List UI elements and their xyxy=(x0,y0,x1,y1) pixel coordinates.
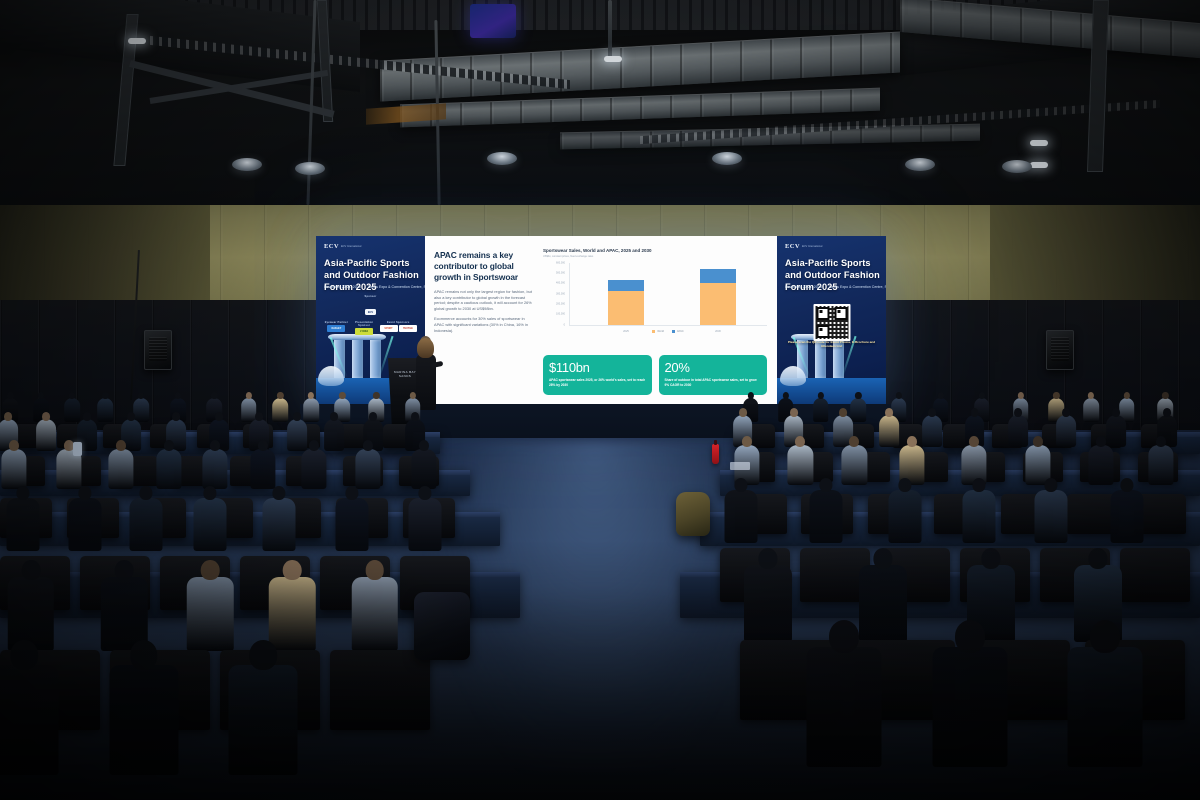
audience-head xyxy=(795,436,805,447)
led-panel-right: ECV ECV International Asia-Pacific Sport… xyxy=(777,236,886,404)
audience-member xyxy=(1035,478,1068,545)
water-bottle xyxy=(712,444,719,464)
chart-y-tick: 0 xyxy=(564,323,565,326)
audience-member xyxy=(1083,392,1099,424)
chart-bar xyxy=(608,280,644,324)
audience-head xyxy=(283,560,302,580)
audience-head xyxy=(116,440,126,451)
audience-member xyxy=(336,486,369,553)
audience-member xyxy=(842,436,867,487)
audience-member xyxy=(744,548,792,646)
sponsor-group-event: Event Sponsors SPORT TEXTILE xyxy=(380,321,418,336)
chart-legend-item: APAC xyxy=(672,330,684,333)
chart-y-tick: 500,000 xyxy=(556,271,565,274)
audience-head xyxy=(979,392,985,399)
audience-head xyxy=(782,392,788,399)
stat-caption: Share of outdoor in total APAC sportswea… xyxy=(665,378,762,388)
audience-head xyxy=(273,486,286,500)
audience-body xyxy=(1148,445,1173,485)
slide-paragraph: Ecommerce accounts for 30% sales of spor… xyxy=(434,316,534,334)
audience-body xyxy=(879,415,899,447)
sponsor-block: Sponsor ECV Eyewear Partner OAKLEY Prese… xyxy=(324,295,417,335)
audience-member xyxy=(813,392,829,424)
audience-body xyxy=(68,498,101,551)
audience-head xyxy=(245,392,251,399)
audience-head xyxy=(873,548,892,569)
audience-head xyxy=(896,392,902,399)
audience-body xyxy=(962,490,995,543)
pa-speaker-right xyxy=(1046,330,1074,370)
stat-card: 20% Share of outdoor in total APAC sport… xyxy=(659,355,768,395)
audience-member xyxy=(324,412,344,452)
audience-member xyxy=(409,486,442,553)
ceiling-lamp-right-b xyxy=(1030,162,1048,168)
audience-head xyxy=(330,412,338,421)
audience-head xyxy=(346,486,359,500)
stat-card: $110bn APAC sportswear sales 2025, or 26… xyxy=(543,355,652,395)
audience-member xyxy=(129,486,162,553)
audience-head xyxy=(4,412,12,421)
audience-head xyxy=(203,486,216,500)
audience-head xyxy=(83,412,91,421)
audience-head xyxy=(1096,436,1106,447)
audience-head xyxy=(38,392,44,399)
audience-head xyxy=(250,640,278,670)
audience-body xyxy=(250,449,275,489)
audience-head xyxy=(1088,392,1094,399)
audience-head xyxy=(972,478,985,492)
audience-body xyxy=(813,398,829,423)
qr-eye-icon xyxy=(816,307,829,320)
audience-member xyxy=(351,560,398,655)
ecv-logo-left: ECV ECV International xyxy=(324,243,361,250)
audience-body xyxy=(842,445,867,485)
audience-head xyxy=(819,478,832,492)
event-meta-left: November 20-21, 2025 Sands Expo & Conven… xyxy=(324,285,419,289)
paper-sheet xyxy=(730,462,750,470)
audience-member xyxy=(809,478,842,545)
audience-member xyxy=(1111,478,1144,545)
audience-head xyxy=(1112,408,1120,417)
audience-member xyxy=(724,478,757,545)
sponsor-group-eyewear: Eyewear Partner OAKLEY xyxy=(324,321,349,336)
audience-head xyxy=(955,620,985,653)
audience-member xyxy=(36,412,56,452)
audience-head xyxy=(885,408,893,417)
audience-member xyxy=(187,560,234,655)
audience-body xyxy=(744,565,792,642)
audience-body xyxy=(187,577,234,651)
ceiling-pipe-c xyxy=(608,0,612,62)
audience-head xyxy=(215,412,223,421)
audience-head xyxy=(849,436,859,447)
audience-head xyxy=(855,392,861,399)
audience-head xyxy=(139,486,152,500)
ecv-logo-right: ECV ECV International xyxy=(785,243,822,250)
slide-paragraph: APAC remains not only the largest region… xyxy=(434,289,534,312)
led-panel-center-slide: APAC remains a key contributor to global… xyxy=(425,236,777,404)
chart-segment-apac xyxy=(700,269,736,283)
audience-member xyxy=(1056,408,1076,448)
qr-code xyxy=(813,304,850,341)
audience-body xyxy=(1056,415,1076,447)
audience-head xyxy=(928,408,936,417)
audience-member xyxy=(962,478,995,545)
audience-head xyxy=(7,392,13,399)
audience-body xyxy=(263,498,296,551)
audience-body xyxy=(336,498,369,551)
chart-plot: 0100,000200,000300,000400,000500,000600,… xyxy=(543,263,767,333)
audience-member xyxy=(250,440,275,491)
audience-head xyxy=(1090,620,1120,653)
qr-eye-icon xyxy=(816,325,829,338)
audience-body xyxy=(411,449,436,489)
audience-head xyxy=(411,412,419,421)
audience-head xyxy=(293,412,301,421)
audience-head xyxy=(1155,436,1165,447)
audience-head xyxy=(1163,408,1171,417)
chart-y-tick: 400,000 xyxy=(556,282,565,285)
audience-member xyxy=(156,440,181,491)
audience-body xyxy=(355,449,380,489)
sponsor-logo: SPORT xyxy=(380,325,398,332)
audience-head xyxy=(211,392,217,399)
sponsor-logo: LYCRA xyxy=(355,328,373,335)
qr-caption: Please scan the QR code for Event Photos… xyxy=(781,340,882,349)
audience-head xyxy=(419,486,432,500)
audience-body xyxy=(888,490,921,543)
audience-head xyxy=(365,560,384,580)
audience-body xyxy=(0,665,59,775)
audience-head xyxy=(22,560,41,580)
conference-hall-photo: ECV ECV International Asia-Pacific Sport… xyxy=(0,0,1200,800)
event-meta-right: November 20-21, 2025 Sands Expo & Conven… xyxy=(785,285,880,289)
audience-member xyxy=(193,486,226,553)
slide-text-column: APAC remains a key contributor to global… xyxy=(434,250,534,334)
chart-bar xyxy=(700,269,736,325)
audience-head xyxy=(339,392,345,399)
audience-head xyxy=(9,440,19,451)
audience-body xyxy=(36,419,56,451)
audience-body xyxy=(409,498,442,551)
audience-body xyxy=(923,415,943,447)
audience-head xyxy=(969,436,979,447)
chart-y-tick: 300,000 xyxy=(556,292,565,295)
audience-head xyxy=(1088,548,1107,569)
audience-head xyxy=(937,392,943,399)
audience-body xyxy=(7,498,40,551)
chart-title: Sportswear Sales, World and APAC, 2025 a… xyxy=(543,248,767,253)
chart-y-tick: 200,000 xyxy=(556,302,565,305)
audience-body xyxy=(98,398,114,423)
audience-head xyxy=(42,412,50,421)
chart-y-tick: 600,000 xyxy=(556,261,565,264)
audience-member xyxy=(932,620,1007,773)
chart-y-tick: 100,000 xyxy=(556,313,565,316)
audience-head xyxy=(907,436,917,447)
audience-head xyxy=(69,392,75,399)
audience-head xyxy=(210,440,220,451)
audience-head xyxy=(258,440,268,451)
audience-body xyxy=(129,498,162,551)
audience-body xyxy=(273,398,289,423)
audience-member xyxy=(923,408,943,448)
audience-head xyxy=(277,392,283,399)
audience-body xyxy=(1,449,26,489)
audience-body xyxy=(108,449,133,489)
pa-speaker-left xyxy=(144,330,172,370)
audience-head xyxy=(1162,392,1168,399)
event-venue-right: Sands Expo & Convention Centre, Singapor… xyxy=(829,285,886,289)
audience-head xyxy=(1120,478,1133,492)
backpack xyxy=(676,492,710,536)
audience-body xyxy=(156,449,181,489)
ceiling-lamp-right-a xyxy=(1030,140,1048,146)
audience-head xyxy=(78,486,91,500)
audience-head xyxy=(308,392,314,399)
ceiling-lamp-center xyxy=(604,56,622,62)
bag-on-floor xyxy=(414,592,470,660)
audience-member xyxy=(68,486,101,553)
chair xyxy=(1120,548,1190,602)
audience-member xyxy=(1067,620,1142,773)
stat-card-row: $110bn APAC sportswear sales 2025, or 26… xyxy=(543,355,767,395)
audience-body xyxy=(932,647,1007,767)
blue-stage-light xyxy=(470,4,516,38)
audience-head xyxy=(201,560,220,580)
audience-body xyxy=(1111,490,1144,543)
audience-body xyxy=(809,490,842,543)
audience-head xyxy=(11,640,39,670)
audience-head xyxy=(981,548,1000,569)
sportswear-sales-chart: Sportswear Sales, World and APAC, 2025 a… xyxy=(543,248,767,344)
audience-member xyxy=(879,408,899,448)
chart-segment-world xyxy=(700,283,736,324)
audience-head xyxy=(739,408,747,417)
audience-head xyxy=(138,392,144,399)
audience-member xyxy=(0,640,59,780)
audience-head xyxy=(308,440,318,451)
stat-caption: APAC sportswear sales 2025, or 26% world… xyxy=(549,378,646,388)
sponsor-label: Sponsor xyxy=(324,295,417,298)
audience-head xyxy=(790,408,798,417)
audience-head xyxy=(748,392,754,399)
audience-member xyxy=(263,486,296,553)
audience-body xyxy=(1067,647,1142,767)
audience-head xyxy=(1044,478,1057,492)
exposed-ceiling xyxy=(0,0,1200,205)
audience-head xyxy=(102,392,108,399)
sponsor-logo: TEXTILE xyxy=(399,325,417,332)
audience-head xyxy=(839,408,847,417)
chart-subtitle: US$bn, constant prices, fixed exchange r… xyxy=(543,255,767,258)
audience-head xyxy=(1014,408,1022,417)
audience-member xyxy=(7,486,40,553)
audience-member xyxy=(301,440,326,491)
slide-heading: APAC remains a key contributor to global… xyxy=(434,250,534,283)
audience-head xyxy=(115,560,134,580)
audience-head xyxy=(127,412,135,421)
audience-member xyxy=(98,392,114,424)
audience-head xyxy=(175,392,181,399)
stat-value: 20% xyxy=(665,361,762,374)
chart-segment-apac xyxy=(608,280,644,291)
chart-legend-item: World xyxy=(652,330,664,333)
audience-head xyxy=(1124,392,1130,399)
presenter-hair xyxy=(417,338,434,358)
qr-eye-icon xyxy=(834,307,847,320)
ceiling-lamp-left xyxy=(128,38,146,44)
audience-head xyxy=(363,440,373,451)
audience-head xyxy=(829,620,859,653)
downlight-2 xyxy=(295,162,325,175)
audience-head xyxy=(16,486,29,500)
phone xyxy=(73,442,82,456)
audience-head xyxy=(410,392,416,399)
downlight-5 xyxy=(905,158,935,171)
audience-body xyxy=(193,498,226,551)
chart-segment-world xyxy=(608,291,644,324)
audience-body xyxy=(351,577,398,651)
audience-body xyxy=(724,490,757,543)
audience-member xyxy=(1148,436,1173,487)
sponsor-logo: OAKLEY xyxy=(327,325,345,332)
audience-head xyxy=(1033,436,1043,447)
audience-member xyxy=(806,620,881,773)
sponsor-group-presentation: Presentation Sponsor LYCRA xyxy=(352,321,377,336)
audience-head xyxy=(369,412,377,421)
audience-body xyxy=(1035,490,1068,543)
audience-head xyxy=(172,412,180,421)
sponsor-chip: ECV xyxy=(365,309,376,314)
chart-plot-area: 20252030 xyxy=(569,263,767,326)
audience-head xyxy=(255,412,263,421)
audience-head xyxy=(419,440,429,451)
audience-member xyxy=(109,640,178,780)
audience-member xyxy=(355,440,380,491)
audience-body xyxy=(806,647,881,767)
audience-member xyxy=(888,478,921,545)
audience-head xyxy=(971,408,979,417)
downlight-1 xyxy=(232,158,262,171)
audience-head xyxy=(164,440,174,451)
chart-y-axis: 0100,000200,000300,000400,000500,000600,… xyxy=(543,263,567,325)
event-date-right: November 20-21, 2025 xyxy=(785,285,822,289)
chart-legend: WorldAPAC xyxy=(569,330,767,333)
event-venue-left: Sands Expo & Convention Centre, Singapor… xyxy=(368,285,425,289)
audience-head xyxy=(818,392,824,399)
audience-member xyxy=(273,392,289,424)
audience-member xyxy=(411,440,436,491)
audience-body xyxy=(229,665,298,775)
audience-body xyxy=(324,419,344,451)
audience-member xyxy=(1,440,26,491)
downlight-4 xyxy=(712,152,742,165)
audience-head xyxy=(742,436,752,447)
audience-member xyxy=(229,640,298,780)
audience-head xyxy=(898,478,911,492)
downlight-3 xyxy=(487,152,517,165)
audience-head xyxy=(734,478,747,492)
audience-member xyxy=(203,440,228,491)
stat-value: $110bn xyxy=(549,361,646,374)
audience-head xyxy=(1017,392,1023,399)
audience-body xyxy=(109,665,178,775)
audience-head xyxy=(130,640,158,670)
audience-head xyxy=(373,392,379,399)
audience-head xyxy=(1062,408,1070,417)
chair xyxy=(330,650,430,730)
audience-body xyxy=(203,449,228,489)
audience-member xyxy=(108,440,133,491)
event-date-left: November 20-21, 2025 xyxy=(324,285,361,289)
downlight-6 xyxy=(1002,160,1032,173)
audience-head xyxy=(1053,392,1059,399)
audience-body xyxy=(1083,398,1099,423)
audience-body xyxy=(301,449,326,489)
audience-head xyxy=(758,548,777,569)
